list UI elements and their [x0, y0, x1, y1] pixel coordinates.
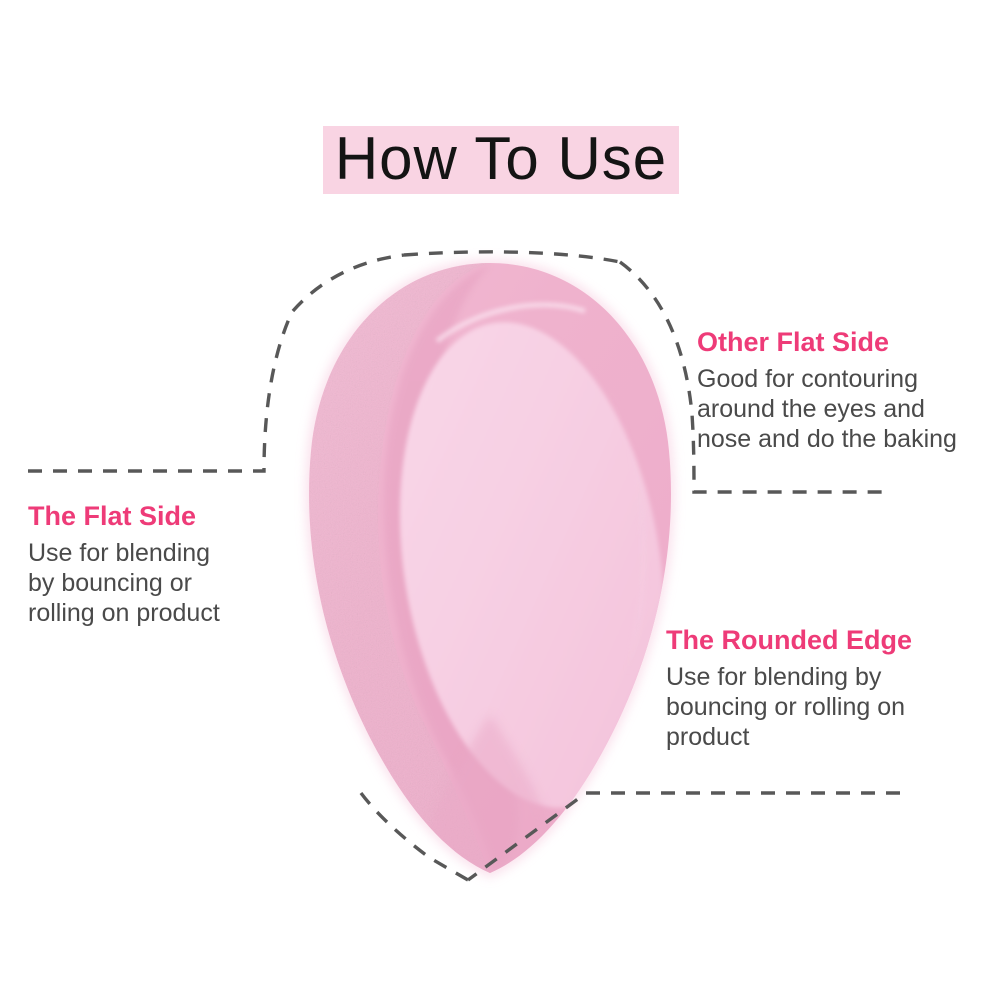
how-to-use-infographic: How To Use — [0, 0, 1002, 1002]
callout-flat-side-line-3: rolling on product — [28, 598, 328, 628]
callout-rounded-edge-title: The Rounded Edge — [666, 624, 986, 656]
callout-other-flat-side-body: Good for contouring around the eyes and … — [697, 364, 997, 454]
callout-flat-side-title: The Flat Side — [28, 500, 328, 532]
callout-rounded-edge: The Rounded Edge Use for blending by bou… — [666, 624, 986, 752]
callout-other-flat-side: Other Flat Side Good for contouring arou… — [697, 326, 997, 454]
callout-other-flat-side-line-3: nose and do the baking — [697, 424, 997, 454]
callout-rounded-edge-line-2: bouncing or rolling on — [666, 692, 986, 722]
callout-flat-side-line-2: by bouncing or — [28, 568, 328, 598]
callout-flat-side-body: Use for blending by bouncing or rolling … — [28, 538, 328, 628]
callout-flat-side-line-1: Use for blending — [28, 538, 328, 568]
callout-rounded-edge-line-1: Use for blending by — [666, 662, 986, 692]
callout-other-flat-side-line-2: around the eyes and — [697, 394, 997, 424]
callout-rounded-edge-line-3: product — [666, 722, 986, 752]
page-title: How To Use — [0, 126, 1002, 194]
page-title-text: How To Use — [323, 126, 679, 194]
callout-other-flat-side-line-1: Good for contouring — [697, 364, 997, 394]
callout-other-flat-side-title: Other Flat Side — [697, 326, 997, 358]
callout-rounded-edge-body: Use for blending by bouncing or rolling … — [666, 662, 986, 752]
callout-flat-side: The Flat Side Use for blending by bounci… — [28, 500, 328, 628]
